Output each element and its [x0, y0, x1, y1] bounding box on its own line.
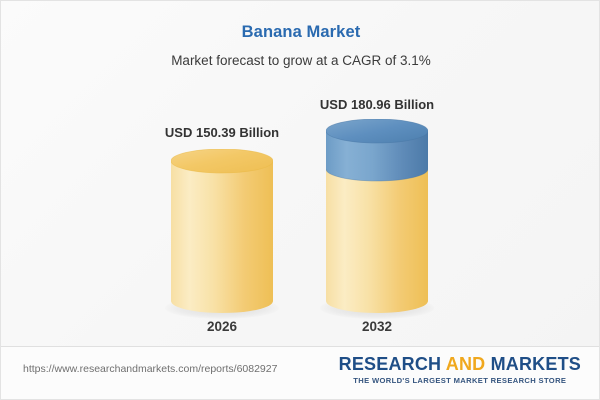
footer: https://www.researchandmarkets.com/repor… — [1, 346, 600, 399]
logo-text-markets: MARKETS — [491, 354, 581, 374]
research-and-markets-logo[interactable]: RESEARCH AND MARKETS THE WORLD'S LARGEST… — [339, 355, 581, 385]
bar-2026[interactable] — [171, 149, 273, 313]
bar-value-label-2032: USD 180.96 Billion — [247, 97, 507, 112]
chart-card: Banana Market Market forecast to grow at… — [0, 0, 600, 400]
logo-text-research: RESEARCH — [339, 354, 446, 374]
bar-value-label-2026: USD 150.39 Billion — [92, 125, 352, 140]
report-url-link[interactable]: https://www.researchandmarkets.com/repor… — [23, 363, 277, 375]
logo-wordmark: RESEARCH AND MARKETS — [339, 355, 581, 374]
bar-category-label-2026: 2026 — [132, 319, 312, 334]
bar-category-label-2032: 2032 — [287, 319, 467, 334]
plot-area: USD 150.39 Billion — [1, 1, 600, 349]
bar-2032[interactable] — [326, 119, 428, 313]
logo-text-and: AND — [446, 354, 491, 374]
logo-tagline: THE WORLD'S LARGEST MARKET RESEARCH STOR… — [339, 376, 581, 385]
